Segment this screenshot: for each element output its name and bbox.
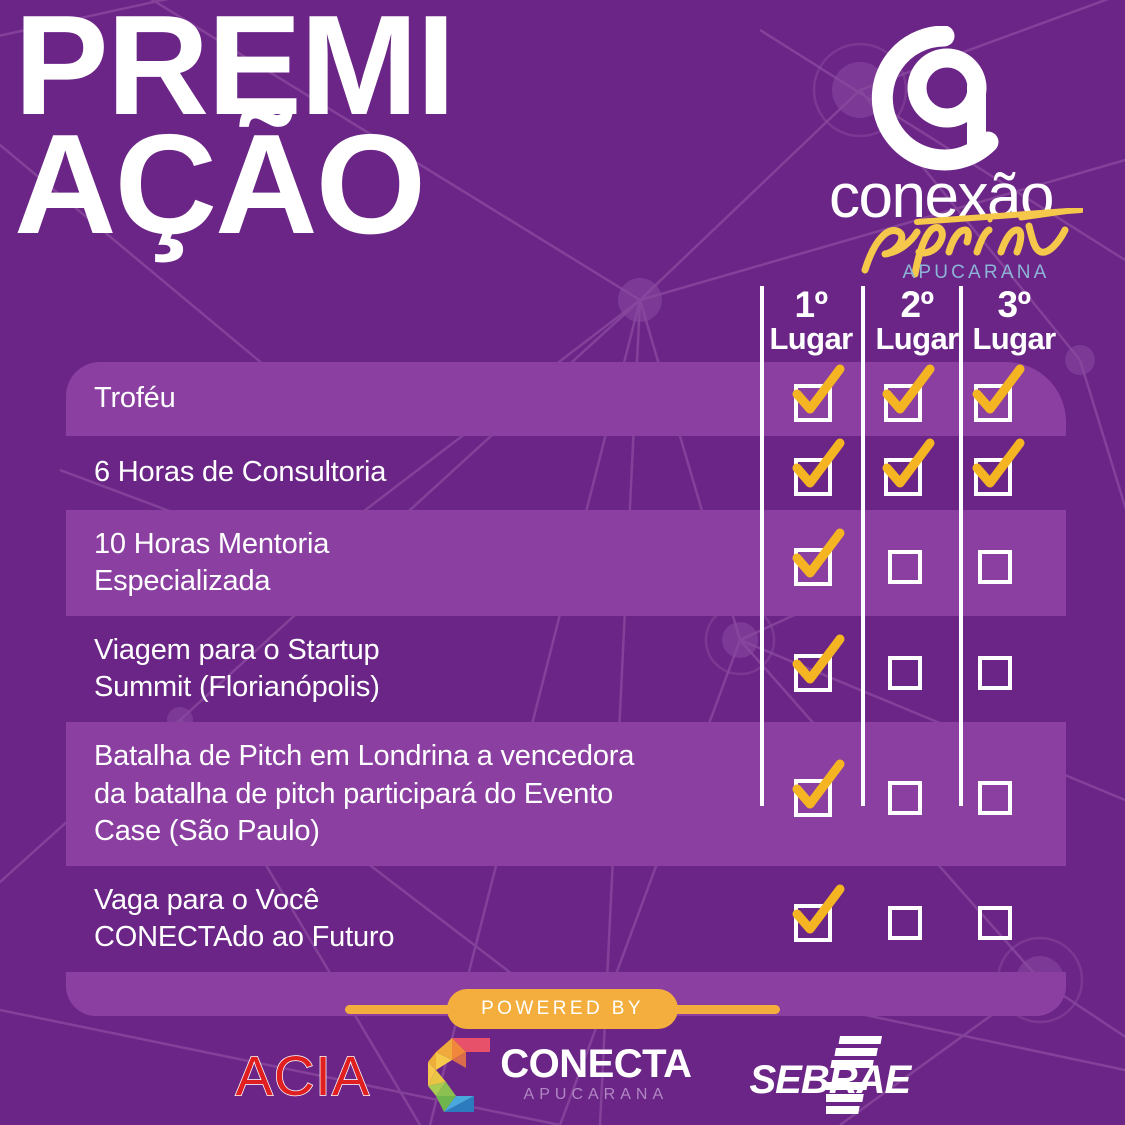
checkbox-checked-icon[interactable]	[968, 376, 1014, 422]
column-label-2nd: Lugar	[872, 323, 962, 354]
sebrae-logo: SEBRAE	[750, 1036, 890, 1114]
table-header-row: 1º Lugar 2º Lugar 3º Lugar	[66, 286, 1066, 362]
checkbox-cells	[766, 450, 1066, 496]
checkbox-empty-icon[interactable]	[968, 896, 1014, 942]
ca-monogram-icon	[869, 26, 1019, 171]
column-label-1st: Lugar	[766, 323, 856, 354]
column-header-1st: 1º Lugar	[766, 286, 856, 354]
prize-label: Viagem para o Startup Summit (Florianópo…	[66, 616, 766, 722]
checkbox-checked-icon[interactable]	[788, 450, 834, 496]
conecta-wordmark: CONECTA APUCARANA	[500, 1044, 691, 1106]
premiacao-poster: PREMI AÇÃO conexão APUCARANA	[0, 0, 1125, 1125]
checkbox-cell	[766, 896, 856, 942]
column-label-3rd: Lugar	[969, 323, 1059, 354]
checkbox-cell	[856, 376, 946, 422]
title-line-2: AÇÃO	[14, 125, 454, 244]
acia-logo: ACIA	[235, 1043, 370, 1108]
powered-by-line-left	[345, 1005, 453, 1014]
checkbox-checked-icon[interactable]	[878, 376, 924, 422]
conecta-logo: CONECTA APUCARANA	[428, 1038, 691, 1112]
checkbox-cell	[856, 540, 946, 586]
prize-label: Vaga para o Você CONECTAdo ao Futuro	[66, 866, 766, 972]
conexao-sprint-logo: conexão APUCARANA	[791, 26, 1091, 276]
checkbox-checked-icon[interactable]	[968, 450, 1014, 496]
checkbox-checked-icon[interactable]	[788, 771, 834, 817]
checkbox-cell	[766, 771, 856, 817]
checkbox-cell	[946, 450, 1036, 496]
checkbox-cell	[856, 450, 946, 496]
sponsor-logos: ACIA CONECTA APUCARANA	[0, 1032, 1125, 1118]
table-row: 6 Horas de Consultoria	[66, 436, 1066, 510]
checkbox-cell	[856, 646, 946, 692]
page-title: PREMI AÇÃO	[14, 6, 454, 245]
checkbox-cell	[766, 376, 856, 422]
checkbox-empty-icon[interactable]	[968, 771, 1014, 817]
table-row: Viagem para o Startup Summit (Florianópo…	[66, 616, 1066, 722]
checkbox-cells	[766, 540, 1066, 586]
checkbox-empty-icon[interactable]	[878, 646, 924, 692]
checkbox-cell	[766, 646, 856, 692]
checkbox-empty-icon[interactable]	[878, 771, 924, 817]
checkbox-cells	[766, 646, 1066, 692]
checkbox-cells	[766, 771, 1066, 817]
conecta-c-icon	[428, 1038, 490, 1112]
column-header-2nd: 2º Lugar	[872, 286, 962, 354]
checkbox-cell	[946, 771, 1036, 817]
checkbox-cell	[856, 771, 946, 817]
checkbox-empty-icon[interactable]	[878, 540, 924, 586]
prize-label: Batalha de Pitch em Londrina a vencedora…	[66, 722, 766, 865]
checkbox-checked-icon[interactable]	[878, 450, 924, 496]
column-rank-1st: 1º	[766, 286, 856, 323]
powered-by-line-right	[672, 1005, 780, 1014]
table-body: Troféu6 Horas de Consultoria10 Horas Men…	[66, 362, 1066, 972]
checkbox-checked-icon[interactable]	[788, 646, 834, 692]
checkbox-empty-icon[interactable]	[878, 896, 924, 942]
table-row: Troféu	[66, 362, 1066, 436]
checkbox-cell	[946, 376, 1036, 422]
prize-label: Troféu	[66, 364, 766, 433]
prize-label: 10 Horas Mentoria Especializada	[66, 510, 766, 616]
checkbox-cells	[766, 896, 1066, 942]
checkbox-cell	[946, 896, 1036, 942]
checkbox-empty-icon[interactable]	[968, 646, 1014, 692]
checkbox-cell	[856, 896, 946, 942]
checkbox-checked-icon[interactable]	[788, 376, 834, 422]
checkbox-empty-icon[interactable]	[968, 540, 1014, 586]
table-row: Batalha de Pitch em Londrina a vencedora…	[66, 722, 1066, 865]
powered-by-banner: POWERED BY	[0, 988, 1125, 1030]
checkbox-cells	[766, 376, 1066, 422]
table-row: 10 Horas Mentoria Especializada	[66, 510, 1066, 616]
conecta-city: APUCARANA	[524, 1084, 669, 1106]
column-header-3rd: 3º Lugar	[969, 286, 1059, 354]
checkbox-checked-icon[interactable]	[788, 540, 834, 586]
powered-by-label: POWERED BY	[447, 989, 678, 1029]
conecta-name: CONECTA	[500, 1044, 691, 1084]
prize-label: 6 Horas de Consultoria	[66, 438, 766, 507]
prizes-table: 1º Lugar 2º Lugar 3º Lugar Troféu6 Horas…	[66, 286, 1066, 1016]
checkbox-cell	[766, 450, 856, 496]
checkbox-cell	[946, 646, 1036, 692]
checkbox-checked-icon[interactable]	[788, 896, 834, 942]
table-row: Vaga para o Você CONECTAdo ao Futuro	[66, 866, 1066, 972]
checkbox-cell	[766, 540, 856, 586]
column-rank-2nd: 2º	[872, 286, 962, 323]
sebrae-wordmark: SEBRAE	[750, 1058, 911, 1103]
checkbox-cell	[946, 540, 1036, 586]
logo-city-label: APUCARANA	[791, 262, 1091, 284]
column-rank-3rd: 3º	[969, 286, 1059, 323]
